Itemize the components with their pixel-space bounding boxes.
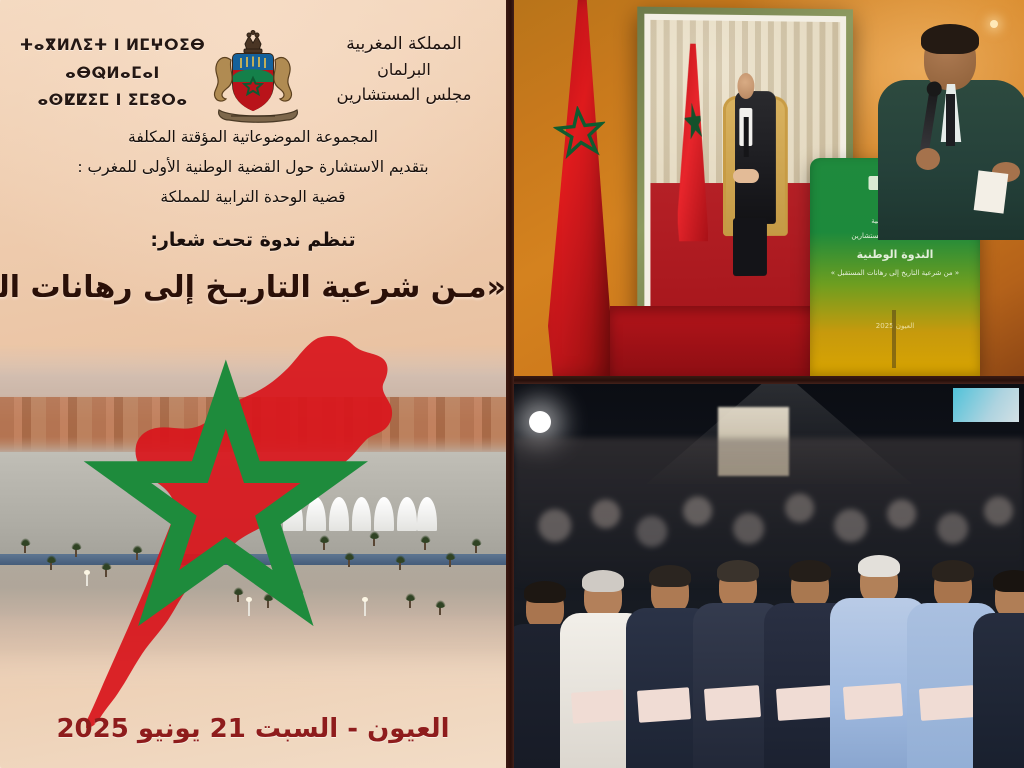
king-tie	[744, 117, 749, 158]
king-head	[737, 73, 754, 99]
arabic-line-kingdom: المملكة المغربية	[314, 32, 494, 58]
ceiling-light	[990, 20, 998, 28]
horizontal-divider	[514, 376, 1024, 384]
committee-description: المجموعة الموضوعاتية المؤقتة المكلفة بتق…	[0, 122, 506, 213]
attendee	[973, 575, 1024, 768]
flag-cloth	[548, 0, 614, 376]
photo-speaker-podium: صاحب الجلالة الملك محمد السادس نصره الله…	[514, 0, 1024, 376]
committee-line-1: المجموعة الموضوعاتية المؤقتة المكلفة	[16, 122, 490, 152]
podium-mic-stand	[892, 310, 896, 368]
organize-line: تنظم ندوة تحت شعار:	[0, 229, 506, 251]
speaker-hair	[921, 24, 979, 54]
front-row-attendees	[514, 515, 1024, 768]
committee-line-2: بتقديم الاستشارة حول القضية الوطنية الأو…	[16, 152, 490, 182]
photo-audience	[514, 384, 1024, 768]
arabic-institution-block: المملكة المغربية البرلمان مجلس المستشاري…	[314, 32, 494, 107]
event-poster: ⵜⴰⴳⵍⴷⵉⵜ ⵏ ⵍⵎⵖⵔⵉⴱ ⴰⴱⵕⵍⴰⵎⴰⵏ ⴰⵙⵇⵇⵉⵎ ⵏ ⵉⵎⵓⵔⴰ	[0, 0, 506, 768]
flag-star-icon	[551, 103, 608, 160]
king-hands	[733, 169, 760, 184]
composite-image: ⵜⴰⴳⵍⴷⵉⵜ ⵏ ⵍⵎⵖⵔⵉⴱ ⴰⴱⵕⵍⴰⵎⴰⵏ ⴰⵙⵇⵇⵉⵎ ⵏ ⵉⵎⵓⵔⴰ	[0, 0, 1024, 768]
tifinagh-line-1: ⵜⴰⴳⵍⴷⵉⵜ ⵏ ⵍⵎⵖⵔⵉⴱ	[10, 32, 215, 60]
speaker-tie	[946, 94, 955, 146]
coat-of-arms-icon	[197, 24, 309, 136]
speaker-hand-left	[916, 148, 940, 170]
event-date: العيون - السبت 21 يونيو 2025	[0, 714, 506, 744]
poster-header: ⵜⴰⴳⵍⴷⵉⵜ ⵏ ⵍⵎⵖⵔⵉⴱ ⴰⴱⵕⵍⴰⵎⴰⵏ ⴰⵙⵇⵇⵉⵎ ⵏ ⵉⵎⵓⵔⴰ	[0, 10, 506, 122]
king-legs	[733, 218, 767, 276]
vertical-divider	[506, 0, 514, 768]
tifinagh-line-2: ⴰⴱⵕⵍⴰⵎⴰⵏ	[10, 60, 215, 88]
podium-subtitle: « من شرعية التاريخ إلى رهانات المستقبل »	[820, 266, 970, 281]
morocco-map-shape	[86, 336, 392, 728]
speech-papers	[974, 170, 1009, 213]
podium-title: الندوة الوطنية	[820, 243, 970, 266]
arabic-line-parliament: البرلمان	[314, 58, 494, 82]
tifinagh-institution-block: ⵜⴰⴳⵍⴷⵉⵜ ⵏ ⵍⵎⵖⵔⵉⴱ ⴰⴱⵕⵍⴰⵎⴰⵏ ⴰⵙⵇⵇⵉⵎ ⵏ ⵉⵎⵓⵔⴰ	[10, 32, 215, 115]
speaker-person	[872, 28, 1024, 238]
stage-lamp-icon	[529, 411, 551, 433]
tifinagh-line-3: ⴰⵙⵇⵇⵉⵎ ⵏ ⵉⵎⵓⵔⴰ	[10, 87, 215, 115]
event-slogan: «مـن شرعية التاريـخ إلى رهانات المستقبـل…	[0, 270, 506, 305]
committee-line-3: قضية الوحدة الترابية للمملكة	[16, 182, 490, 212]
projection-screen	[953, 388, 1019, 423]
morocco-map-overlay	[0, 330, 506, 730]
arabic-line-council: مجلس المستشارين	[314, 82, 494, 107]
